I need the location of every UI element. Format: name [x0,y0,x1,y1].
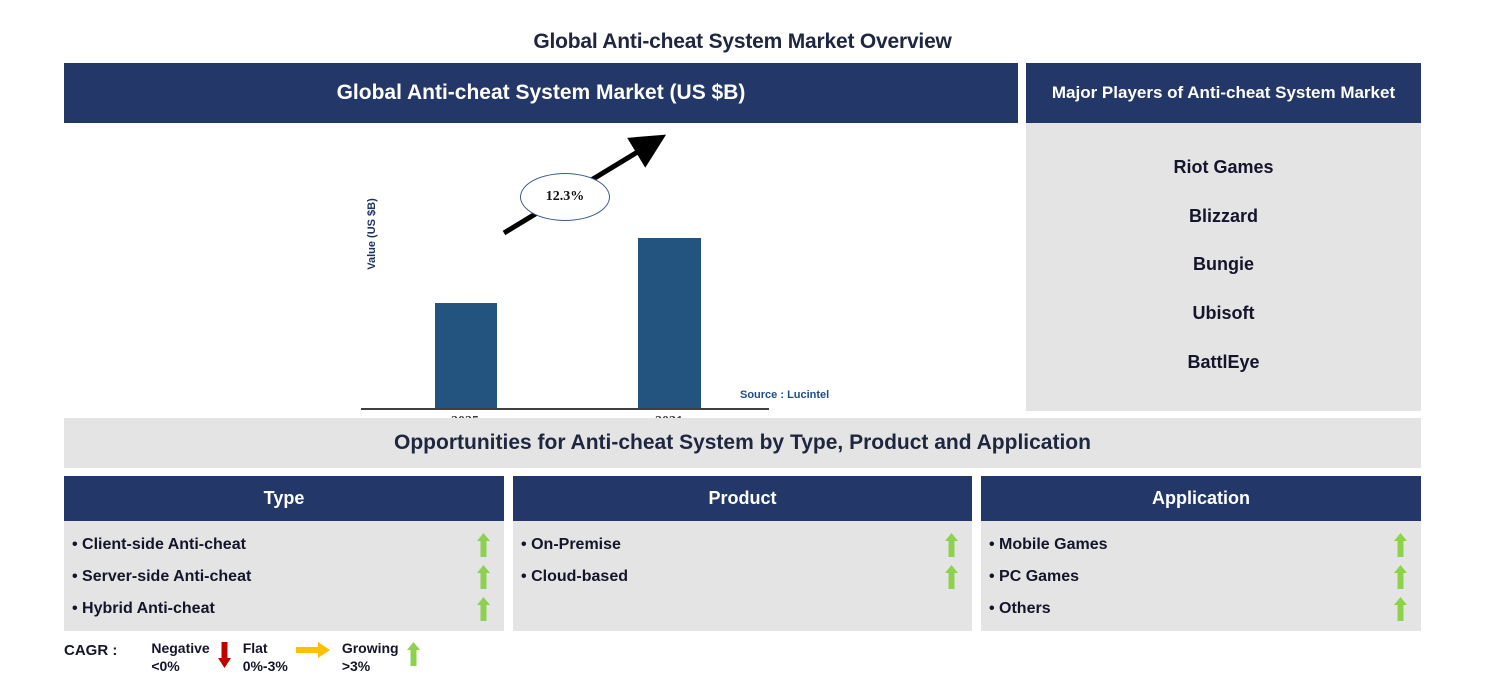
list-item: BattlEye [1187,352,1259,373]
legend-negative-text: Negative <0% [151,640,209,675]
chart-y-axis-label: Value (US $B) [366,198,378,270]
major-players-panel: Major Players of Anti-cheat System Marke… [1026,63,1421,411]
opportunity-column-product: Product • On-Premise • Cloud-based [513,476,972,631]
list-item: Riot Games [1173,157,1273,178]
opportunity-label: • Mobile Games [989,536,1108,554]
cagr-value-bubble: 12.3% [520,173,610,221]
opportunity-column-header: Product [513,476,972,521]
legend-flat-text: Flat 0%-3% [243,640,288,675]
arrow-right-yellow-icon [296,640,330,658]
arrow-up-green-icon [477,533,490,557]
arrow-up-green-icon [1394,597,1407,621]
chart-x-axis-line [361,408,769,410]
opportunity-column-application: Application • Mobile Games • PC Games • … [981,476,1421,631]
cagr-legend: CAGR : Negative <0% Flat 0%-3% Growing >… [64,640,420,675]
list-item: • Client-side Anti-cheat [72,529,490,561]
legend-growing-name: Growing [342,640,399,658]
legend-item-growing: Growing >3% [342,640,420,675]
legend-growing-text: Growing >3% [342,640,399,675]
list-item: • Cloud-based [521,561,958,593]
opportunity-column-header: Type [64,476,504,521]
opportunity-label: • Cloud-based [521,568,628,586]
market-chart-panel-header: Global Anti-cheat System Market (US $B) [64,63,1018,123]
arrow-up-green-icon [407,640,420,666]
arrow-up-green-icon [1394,533,1407,557]
market-overview-infographic: Global Anti-cheat System Market Overview… [0,0,1486,695]
opportunity-column-type: Type • Client-side Anti-cheat • Server-s… [64,476,504,631]
opportunity-column-header: Application [981,476,1421,521]
opportunity-label: • On-Premise [521,536,621,554]
list-item: • Hybrid Anti-cheat [72,593,490,625]
legend-negative-name: Negative [151,640,209,658]
legend-item-flat: Flat 0%-3% [243,640,330,675]
cagr-legend-title: CAGR : [64,640,117,659]
market-chart-panel: Global Anti-cheat System Market (US $B) … [64,63,1018,413]
opportunities-columns: Type • Client-side Anti-cheat • Server-s… [64,476,1421,631]
bar-2031 [638,238,701,408]
opportunities-banner: Opportunities for Anti-cheat System by T… [64,418,1421,468]
legend-flat-range: 0%-3% [243,658,288,676]
opportunity-label: • Others [989,600,1051,618]
opportunity-label: • Hybrid Anti-cheat [72,600,215,618]
arrow-up-green-icon [945,565,958,589]
legend-negative-range: <0% [151,658,209,676]
opportunity-label: • PC Games [989,568,1079,586]
major-players-list: Riot Games Blizzard Bungie Ubisoft Battl… [1026,123,1421,411]
market-bar-chart: Value (US $B) 2025 2031 12.3% Source : L… [64,123,1018,413]
page-title: Global Anti-cheat System Market Overview [64,30,1421,54]
list-item: Ubisoft [1193,303,1255,324]
opportunity-column-body: • Mobile Games • PC Games • Others [981,521,1421,631]
list-item: • Server-side Anti-cheat [72,561,490,593]
list-item: Bungie [1193,254,1254,275]
opportunity-label: • Client-side Anti-cheat [72,536,246,554]
arrow-down-red-icon [218,640,231,668]
list-item: • Others [989,593,1407,625]
arrow-up-green-icon [1394,565,1407,589]
arrow-up-green-icon [477,597,490,621]
major-players-panel-header: Major Players of Anti-cheat System Marke… [1026,63,1421,123]
opportunity-column-body: • Client-side Anti-cheat • Server-side A… [64,521,504,631]
cagr-growth-arrow-icon [354,123,784,413]
arrow-up-green-icon [477,565,490,589]
list-item: • Mobile Games [989,529,1407,561]
opportunity-label: • Server-side Anti-cheat [72,568,251,586]
legend-growing-range: >3% [342,658,399,676]
list-item: • PC Games [989,561,1407,593]
legend-flat-name: Flat [243,640,288,658]
bar-2025 [435,303,497,408]
list-item: Blizzard [1189,206,1258,227]
chart-source-note: Source : Lucintel [740,389,829,401]
legend-item-negative: Negative <0% [151,640,230,675]
opportunity-column-body: • On-Premise • Cloud-based [513,521,972,631]
list-item: • On-Premise [521,529,958,561]
arrow-up-green-icon [945,533,958,557]
